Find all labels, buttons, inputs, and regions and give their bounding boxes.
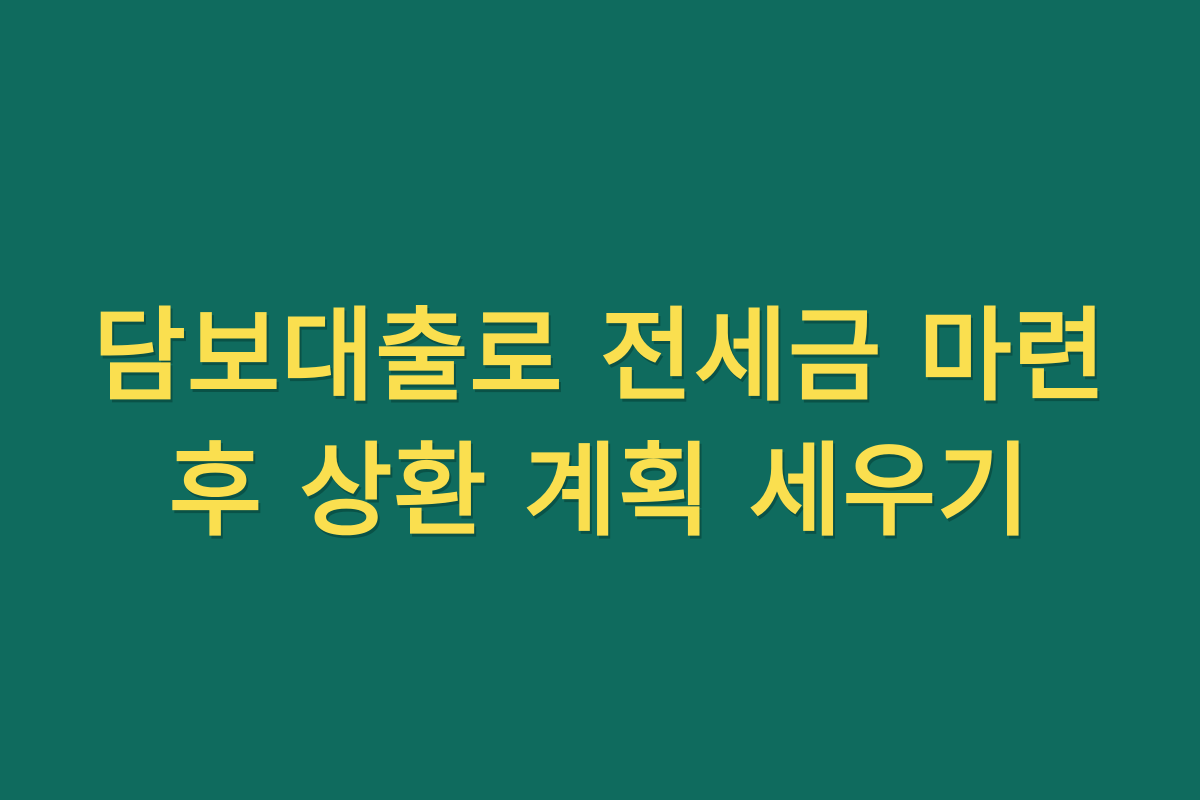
banner-card: 담보대출로 전세금 마련 후 상환 계획 세우기 [0,0,1200,800]
banner-title-line-1: 담보대출로 전세금 마련 [40,289,1160,424]
banner-title: 담보대출로 전세금 마련 후 상환 계획 세우기 [0,289,1200,559]
banner-title-line-2: 후 상환 계획 세우기 [40,424,1160,559]
